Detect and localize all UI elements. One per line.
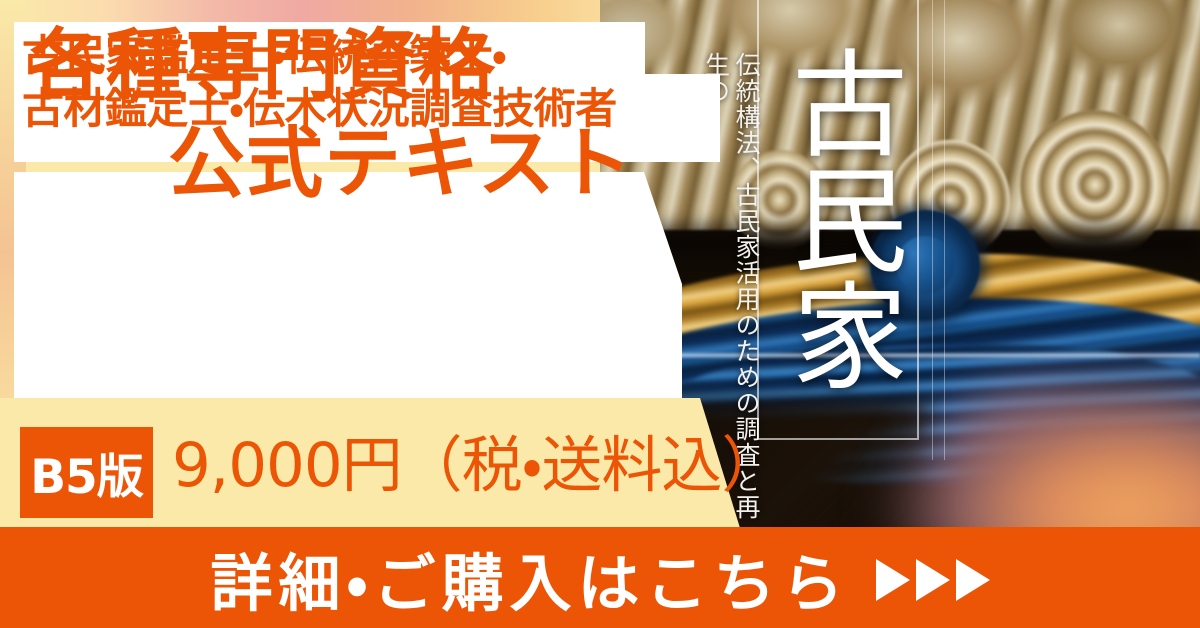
triangle-right-icon [876, 559, 910, 601]
format-badge-label: B5版 [20, 427, 153, 518]
cta-button[interactable]: 詳細・ご購入はこちら [0, 527, 1200, 628]
headline-line-2: 公式テキスト [168, 126, 634, 203]
book-cover-title: 古民家 [768, 8, 908, 428]
price-amount: 9,000円（税・送料込） [172, 432, 781, 499]
triangle-right-icon [916, 559, 950, 601]
format-badge: B5版 [20, 427, 153, 518]
promo-banner: 伝統構法、古民家活用のための調査と再生の 古民家 古民家鑑定士・伝統再築士・ 古… [0, 0, 1200, 628]
cover-vertical-rule [932, 0, 933, 460]
triangle-right-icon [956, 559, 990, 601]
cta-arrows [876, 559, 990, 601]
cover-vertical-rule [944, 0, 945, 460]
cta-label: 詳細・ご購入はこちら [210, 533, 849, 623]
headline-line-1: 各種専門資格 [28, 28, 496, 105]
